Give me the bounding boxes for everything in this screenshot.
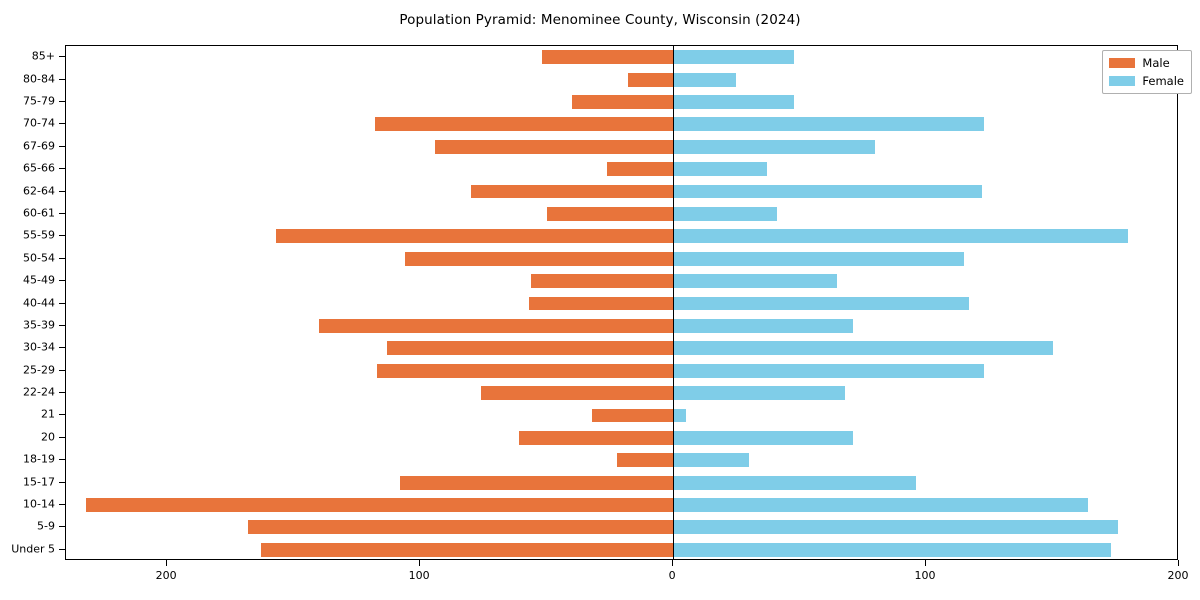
y-tick-label: 10-14 — [0, 498, 55, 511]
bar-female — [673, 117, 984, 131]
bar-male — [387, 341, 673, 355]
y-tick-mark — [59, 168, 65, 169]
y-tick-label: 40-44 — [0, 296, 55, 309]
bar-female — [673, 297, 969, 311]
bar-female — [673, 543, 1111, 557]
y-tick-label: 30-34 — [0, 341, 55, 354]
y-tick-mark — [59, 414, 65, 415]
y-tick-mark — [59, 123, 65, 124]
bar-female — [673, 274, 837, 288]
legend-label: Female — [1142, 74, 1184, 88]
x-tick-label: 0 — [669, 569, 676, 582]
bar-female — [673, 207, 777, 221]
y-tick-mark — [59, 101, 65, 102]
pyramid-row — [66, 140, 1177, 154]
bars-layer — [66, 46, 1177, 559]
y-tick-mark — [59, 191, 65, 192]
pyramid-row — [66, 50, 1177, 64]
pyramid-row — [66, 162, 1177, 176]
y-tick-label: 22-24 — [0, 386, 55, 399]
y-tick-mark — [59, 392, 65, 393]
x-tick-label: 200 — [156, 569, 177, 582]
bar-male — [481, 386, 673, 400]
bar-female — [673, 229, 1128, 243]
y-tick-mark — [59, 235, 65, 236]
zero-axis-line — [673, 46, 674, 559]
pyramid-row — [66, 364, 1177, 378]
bar-male — [375, 117, 673, 131]
bar-female — [673, 476, 916, 490]
bar-male — [529, 297, 673, 311]
bar-female — [673, 431, 853, 445]
x-tick-mark — [419, 560, 420, 566]
bar-female — [673, 319, 853, 333]
y-tick-label: 70-74 — [0, 117, 55, 130]
y-tick-label: 35-39 — [0, 318, 55, 331]
bar-male — [276, 229, 673, 243]
x-tick-mark — [166, 560, 167, 566]
pyramid-row — [66, 409, 1177, 423]
bar-male — [86, 498, 673, 512]
bar-female — [673, 252, 964, 266]
pyramid-row — [66, 453, 1177, 467]
pyramid-row — [66, 274, 1177, 288]
bar-male — [628, 73, 674, 87]
pyramid-row — [66, 297, 1177, 311]
y-tick-label: Under 5 — [0, 542, 55, 555]
bar-male — [547, 207, 673, 221]
y-tick-mark — [59, 56, 65, 57]
legend-label: Male — [1142, 56, 1169, 70]
bar-male — [405, 252, 673, 266]
y-tick-label: 21 — [0, 408, 55, 421]
y-tick-mark — [59, 213, 65, 214]
y-tick-label: 50-54 — [0, 251, 55, 264]
x-tick-mark — [925, 560, 926, 566]
y-tick-label: 85+ — [0, 50, 55, 63]
bar-female — [673, 498, 1088, 512]
pyramid-row — [66, 476, 1177, 490]
y-tick-label: 20 — [0, 430, 55, 443]
chart-legend: MaleFemale — [1102, 50, 1192, 94]
bar-female — [673, 50, 794, 64]
bar-male — [400, 476, 673, 490]
pyramid-row — [66, 207, 1177, 221]
pyramid-row — [66, 252, 1177, 266]
pyramid-row — [66, 229, 1177, 243]
y-tick-mark — [59, 303, 65, 304]
y-tick-label: 45-49 — [0, 274, 55, 287]
bar-male — [542, 50, 674, 64]
bar-male — [572, 95, 673, 109]
bar-male — [617, 453, 673, 467]
y-tick-label: 65-66 — [0, 162, 55, 175]
y-tick-label: 25-29 — [0, 363, 55, 376]
pyramid-row — [66, 341, 1177, 355]
bar-male — [248, 520, 673, 534]
legend-swatch — [1109, 58, 1135, 68]
y-tick-label: 18-19 — [0, 453, 55, 466]
y-tick-mark — [59, 146, 65, 147]
bar-male — [607, 162, 673, 176]
x-tick-mark — [672, 560, 673, 566]
y-tick-mark — [59, 347, 65, 348]
pyramid-row — [66, 117, 1177, 131]
legend-swatch — [1109, 76, 1135, 86]
bar-female — [673, 162, 767, 176]
bar-female — [673, 520, 1118, 534]
y-tick-label: 55-59 — [0, 229, 55, 242]
y-tick-mark — [59, 549, 65, 550]
legend-item: Male — [1109, 56, 1184, 70]
y-tick-mark — [59, 258, 65, 259]
y-tick-mark — [59, 437, 65, 438]
pyramid-row — [66, 520, 1177, 534]
bar-male — [531, 274, 673, 288]
bar-female — [673, 409, 686, 423]
bar-female — [673, 341, 1052, 355]
y-tick-label: 67-69 — [0, 139, 55, 152]
y-tick-label: 80-84 — [0, 72, 55, 85]
y-tick-label: 60-61 — [0, 206, 55, 219]
bar-male — [435, 140, 673, 154]
x-tick-label: 200 — [1168, 569, 1189, 582]
bar-male — [319, 319, 673, 333]
y-tick-mark — [59, 280, 65, 281]
bar-female — [673, 73, 736, 87]
pyramid-row — [66, 543, 1177, 557]
x-tick-mark — [1178, 560, 1179, 566]
bar-male — [261, 543, 673, 557]
bar-female — [673, 453, 749, 467]
y-tick-mark — [59, 370, 65, 371]
y-tick-mark — [59, 325, 65, 326]
bar-male — [471, 185, 673, 199]
x-tick-label: 100 — [409, 569, 430, 582]
pyramid-row — [66, 498, 1177, 512]
pyramid-row — [66, 95, 1177, 109]
y-tick-label: 5-9 — [0, 520, 55, 533]
pyramid-row — [66, 431, 1177, 445]
bar-female — [673, 95, 794, 109]
pyramid-row — [66, 185, 1177, 199]
y-tick-mark — [59, 79, 65, 80]
y-tick-mark — [59, 482, 65, 483]
bar-male — [592, 409, 673, 423]
x-tick-label: 100 — [915, 569, 936, 582]
y-tick-mark — [59, 459, 65, 460]
legend-item: Female — [1109, 74, 1184, 88]
bar-female — [673, 140, 875, 154]
pyramid-row — [66, 319, 1177, 333]
chart-figure: Population Pyramid: Menominee County, Wi… — [0, 0, 1200, 600]
y-tick-label: 75-79 — [0, 94, 55, 107]
y-tick-label: 62-64 — [0, 184, 55, 197]
bar-female — [673, 185, 982, 199]
bar-male — [377, 364, 673, 378]
chart-title: Population Pyramid: Menominee County, Wi… — [0, 12, 1200, 28]
y-tick-mark — [59, 526, 65, 527]
y-tick-label: 15-17 — [0, 475, 55, 488]
plot-area — [65, 45, 1178, 560]
bar-male — [519, 431, 673, 445]
bar-female — [673, 386, 845, 400]
pyramid-row — [66, 73, 1177, 87]
y-tick-mark — [59, 504, 65, 505]
pyramid-row — [66, 386, 1177, 400]
bar-female — [673, 364, 984, 378]
